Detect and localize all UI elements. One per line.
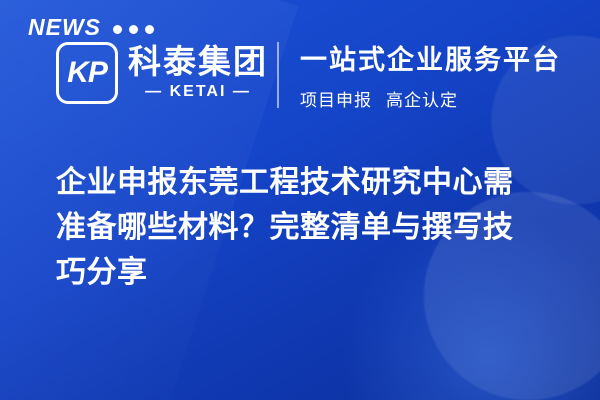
news-dot-3	[145, 25, 154, 34]
logo-wordmark: 科泰集团 — KETAI —	[128, 45, 268, 102]
news-banner: NEWS KP 科泰集团 — KETAI — 一站式企业服务平台 项目申报 高企…	[0, 0, 600, 400]
slogan-tag-1: 项目申报	[300, 86, 372, 111]
news-dot-2	[129, 25, 138, 34]
headline-line-3: 巧分享	[56, 250, 556, 295]
news-dot-1	[113, 25, 122, 34]
logo-monogram-text: KP	[67, 56, 107, 90]
headline: 企业申报东莞工程技术研究中心需 准备哪些材料？完整清单与撰写技 巧分享	[56, 160, 556, 295]
slogan-block: 一站式企业服务平台 项目申报 高企认定	[300, 44, 561, 111]
slogan-tags: 项目申报 高企认定	[300, 86, 561, 111]
news-dots-icon	[113, 25, 154, 34]
brand-logo: KP 科泰集团 — KETAI —	[56, 42, 268, 104]
logo-company-cn: 科泰集团	[128, 45, 268, 80]
news-label-row: NEWS	[28, 14, 154, 41]
news-label: NEWS	[28, 14, 101, 41]
vertical-divider	[277, 42, 279, 108]
logo-company-en: — KETAI —	[128, 83, 268, 101]
headline-line-2: 准备哪些材料？完整清单与撰写技	[56, 205, 556, 250]
slogan-tag-2: 高企认定	[386, 86, 458, 111]
slogan-main-text: 一站式企业服务平台	[300, 44, 561, 76]
headline-line-1: 企业申报东莞工程技术研究中心需	[56, 160, 556, 205]
logo-monogram-icon: KP	[56, 42, 118, 104]
